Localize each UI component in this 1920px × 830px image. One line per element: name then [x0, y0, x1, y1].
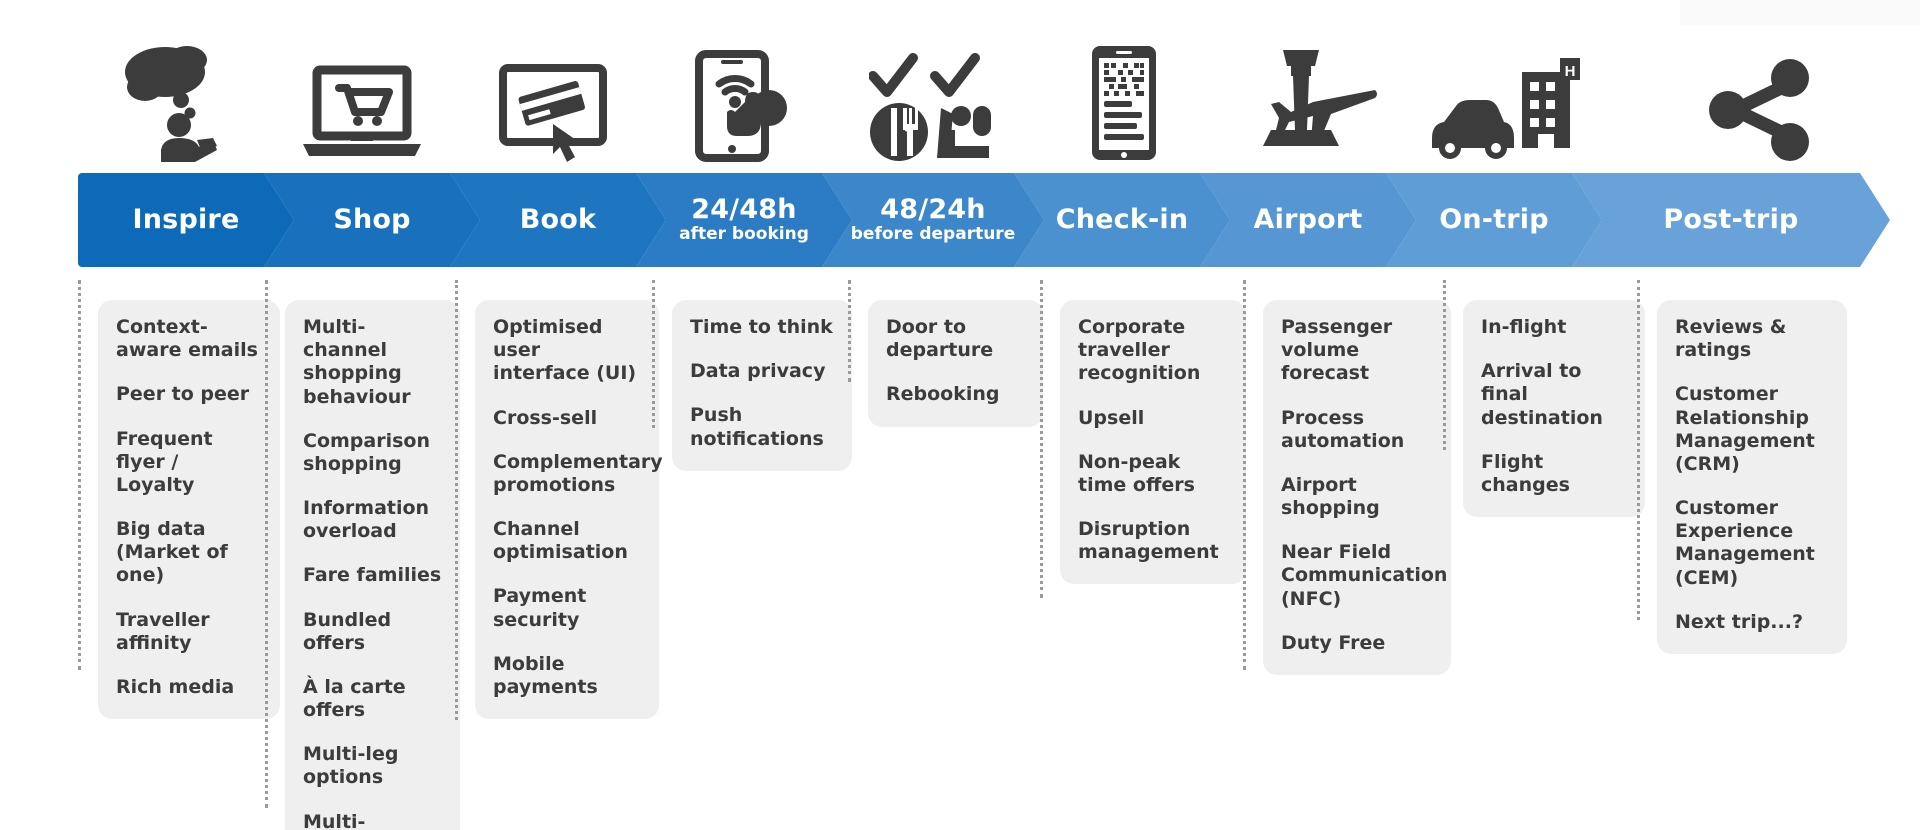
stage-label-after-booking: 24/48h [691, 196, 796, 224]
stage-chevron-post-trip[interactable]: Post-trip [1572, 173, 1890, 267]
list-item: Complementary promotions [493, 451, 641, 497]
icon-cell-on-trip: H [1410, 18, 1602, 168]
svg-text:H: H [1565, 63, 1576, 80]
list-item: Multi-currency pricings [303, 811, 442, 830]
list-item: Rich media [116, 676, 262, 699]
icon-cell-after-booking [648, 18, 838, 168]
list-item: Push notifications [690, 404, 834, 450]
item-list-inspire: Context-aware emails Peer to peer Freque… [116, 316, 262, 699]
icon-cell-airport [1220, 18, 1410, 168]
list-item: Arrival to final destination [1481, 360, 1627, 430]
list-item: Information overload [303, 497, 442, 543]
list-item: Flight changes [1481, 451, 1627, 497]
list-item: À la carte offers [303, 676, 442, 722]
column-divider [1637, 280, 1640, 620]
icon-cell-before-departure [838, 18, 1028, 168]
column-divider [265, 280, 268, 808]
list-item: Near Field Communication (NFC) [1281, 541, 1433, 611]
card-shop: Multi-channel shopping behaviour Compari… [285, 300, 460, 830]
item-list-check-in: Corporate traveller recognition Upsell N… [1078, 316, 1228, 564]
list-item: Rebooking [886, 383, 1025, 406]
item-list-after-booking: Time to think Data privacy Push notifica… [690, 316, 834, 451]
list-item: Cross-sell [493, 407, 641, 430]
list-item: Bundled offers [303, 609, 442, 655]
list-item: Next trip...? [1675, 611, 1829, 634]
list-item: Fare families [303, 564, 442, 587]
stage-chevron-inspire[interactable]: Inspire [78, 173, 294, 267]
card-check-in: Corporate traveller recognition Upsell N… [1060, 300, 1246, 584]
list-item: Multi-leg options [303, 743, 442, 789]
stage-label-check-in: Check-in [1056, 206, 1189, 234]
item-list-post-trip: Reviews & ratings Customer Relationship … [1675, 316, 1829, 634]
stage-label-shop: Shop [333, 206, 410, 234]
stage-chevron-airport[interactable]: Airport [1200, 173, 1416, 267]
list-item: Customer Experience Management (CEM) [1675, 497, 1829, 590]
list-item: Airport shopping [1281, 474, 1433, 520]
column-divider [455, 280, 458, 720]
card-airport: Passenger volume forecast Process automa… [1263, 300, 1451, 675]
car-hotel-icon: H [1430, 54, 1582, 162]
stage-chevron-check-in[interactable]: Check-in [1014, 173, 1230, 267]
list-item: Peer to peer [116, 383, 262, 406]
stage-chevron-after-booking[interactable]: 24/48h after booking [636, 173, 852, 267]
item-list-book: Optimised user interface (UI) Cross-sell… [493, 316, 641, 699]
list-item: Data privacy [690, 360, 834, 383]
list-item: Duty Free [1281, 632, 1433, 655]
list-item: Frequent flyer / Loyalty [116, 428, 262, 498]
stage-label-inspire: Inspire [133, 206, 240, 234]
list-item: Multi-channel shopping behaviour [303, 316, 442, 409]
list-item: Time to think [690, 316, 834, 339]
list-item: Customer Relationship Management (CRM) [1675, 383, 1829, 476]
stage-label-airport: Airport [1254, 206, 1363, 234]
stage-icon-row: H [80, 18, 1920, 168]
list-item: Big data (Market of one) [116, 518, 262, 588]
stage-label-before-departure: 48/24h [880, 196, 985, 224]
item-list-airport: Passenger volume forecast Process automa… [1281, 316, 1433, 655]
list-item: Optimised user interface (UI) [493, 316, 641, 386]
stage-chevron-before-departure[interactable]: 48/24h before departure [822, 173, 1044, 267]
list-item: Passenger volume forecast [1281, 316, 1433, 386]
stage-label-post-trip: Post-trip [1663, 206, 1798, 234]
list-item: Process automation [1281, 407, 1433, 453]
list-item: Reviews & ratings [1675, 316, 1829, 362]
icon-cell-check-in [1028, 18, 1220, 168]
card-after-booking: Time to think Data privacy Push notifica… [672, 300, 852, 471]
icon-cell-book [458, 18, 648, 168]
mobile-touch-icon [691, 50, 795, 162]
thinking-person-icon [121, 42, 225, 162]
list-item: Context-aware emails [116, 316, 262, 362]
card-on-trip: In-flight Arrival to final destination F… [1463, 300, 1645, 517]
column-divider [78, 280, 81, 670]
stage-label-book: Book [520, 206, 596, 234]
card-book: Optimised user interface (UI) Cross-sell… [475, 300, 659, 719]
list-item: Comparison shopping [303, 430, 442, 476]
item-list-shop: Multi-channel shopping behaviour Compari… [303, 316, 442, 830]
list-item: Traveller affinity [116, 609, 262, 655]
icon-cell-post-trip [1602, 18, 1920, 168]
stage-sublabel-after-booking: after booking [679, 225, 809, 244]
stage-label-on-trip: On-trip [1439, 206, 1549, 234]
journey-stage-band: Inspire Shop Book 24/48h after booking 4… [78, 173, 1890, 267]
meal-seat-check-icon [869, 50, 997, 162]
list-item: Non-peak time offers [1078, 451, 1228, 497]
card-before-departure: Door to departure Rebooking [868, 300, 1043, 427]
control-tower-plane-icon [1253, 46, 1377, 162]
column-divider [1443, 280, 1446, 450]
item-list-on-trip: In-flight Arrival to final destination F… [1481, 316, 1627, 497]
card-post-trip: Reviews & ratings Customer Relationship … [1657, 300, 1847, 654]
laptop-cart-icon [303, 64, 421, 162]
column-divider [1243, 280, 1246, 670]
stage-detail-columns: Context-aware emails Peer to peer Freque… [0, 280, 1920, 830]
column-divider [1040, 280, 1043, 598]
card-inspire: Context-aware emails Peer to peer Freque… [98, 300, 280, 719]
traveller-journey-infographic: H Inspire Shop [0, 0, 1920, 830]
mobile-boarding-pass-icon [1088, 44, 1160, 162]
share-icon [1708, 58, 1814, 162]
list-item: Door to departure [886, 316, 1025, 362]
tablet-card-payment-icon [495, 62, 611, 162]
stage-chevron-book[interactable]: Book [450, 173, 666, 267]
list-item: Mobile payments [493, 653, 641, 699]
stage-chevron-shop[interactable]: Shop [264, 173, 480, 267]
list-item: Upsell [1078, 407, 1228, 430]
list-item: Payment security [493, 585, 641, 631]
list-item: Channel optimisation [493, 518, 641, 564]
list-item: Disruption management [1078, 518, 1228, 564]
column-divider [848, 280, 851, 382]
icon-cell-shop [266, 18, 458, 168]
stage-sublabel-before-departure: before departure [851, 225, 1015, 244]
item-list-before-departure: Door to departure Rebooking [886, 316, 1025, 407]
stage-chevron-on-trip[interactable]: On-trip [1386, 173, 1602, 267]
list-item: In-flight [1481, 316, 1627, 339]
list-item: Corporate traveller recognition [1078, 316, 1228, 386]
column-divider [652, 280, 655, 428]
icon-cell-inspire [80, 18, 266, 168]
